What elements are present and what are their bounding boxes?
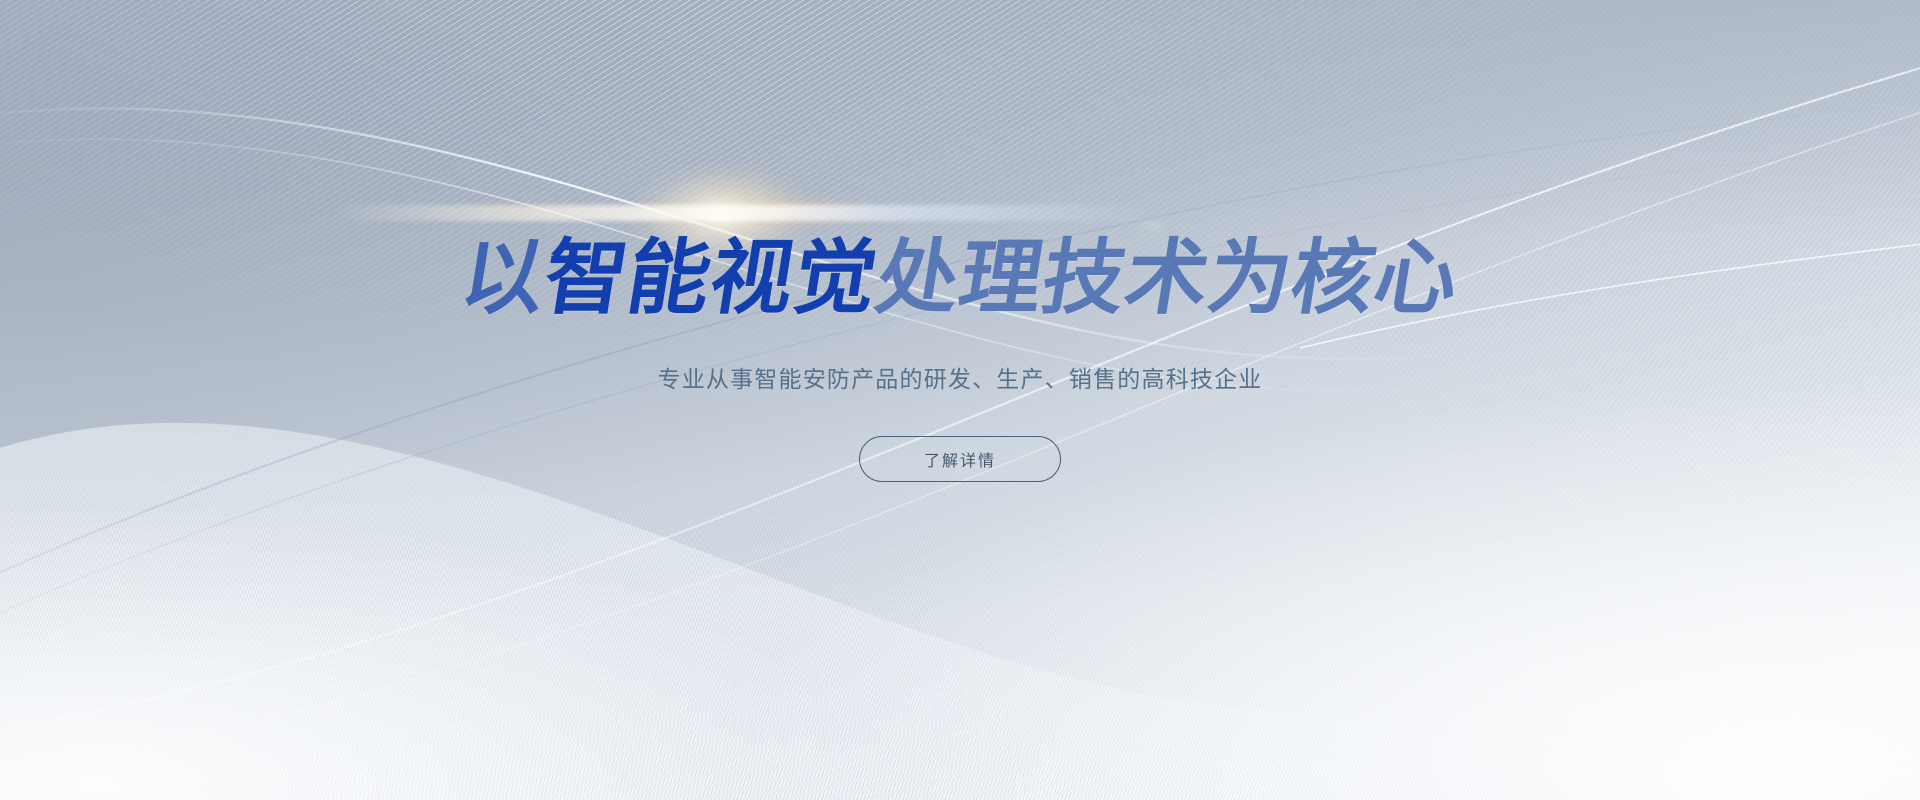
hero-headline: 以智能视觉处理技术为核心 xyxy=(455,238,1464,320)
hero-content: 以智能视觉处理技术为核心 专业从事智能安防产品的研发、生产、销售的高科技企业 了… xyxy=(0,0,1920,800)
headline-segment-2: 智能视觉 xyxy=(538,238,883,320)
hero-subtitle: 专业从事智能安防产品的研发、生产、销售的高科技企业 xyxy=(658,360,1263,394)
learn-more-button[interactable]: 了解详情 xyxy=(859,436,1061,482)
headline-segment-3: 处理技术为核心 xyxy=(871,238,1465,320)
hero-banner: 以智能视觉处理技术为核心 专业从事智能安防产品的研发、生产、销售的高科技企业 了… xyxy=(0,0,1920,800)
headline-segment-1: 以 xyxy=(455,238,551,320)
